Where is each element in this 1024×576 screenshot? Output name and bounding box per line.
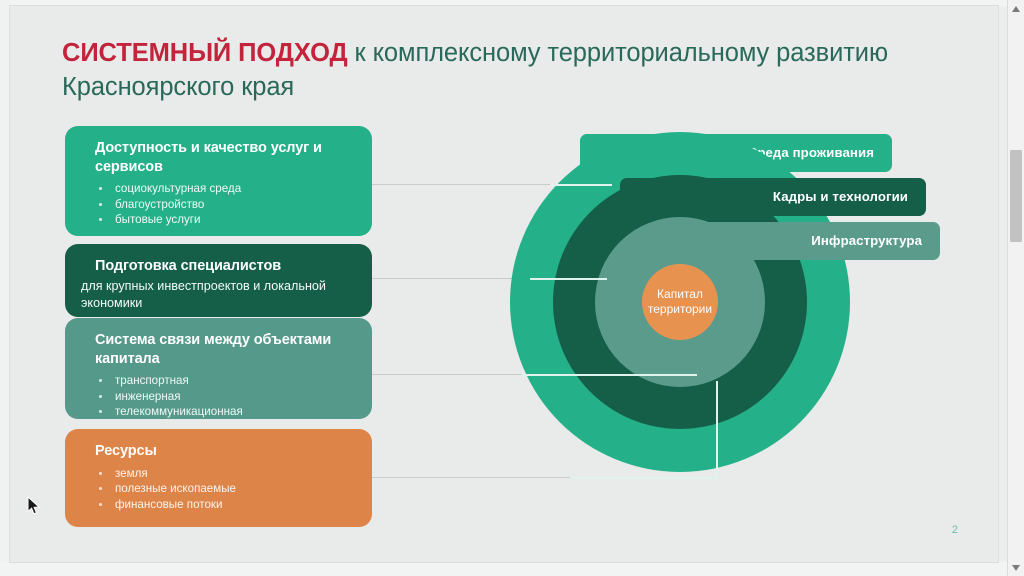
card-resources[interactable]: Ресурсы земля полезные ископаемые финанс…: [65, 429, 372, 527]
card-subtitle: для крупных инвестпроектов и локальной э…: [81, 278, 356, 312]
core-label: Капитал территории: [648, 287, 712, 317]
list-item: бытовые услуги: [95, 212, 356, 228]
card-connection-system[interactable]: Система связи между объектами капитала т…: [65, 318, 372, 419]
viewer-left-margin: [0, 0, 10, 576]
chevron-down-icon[interactable]: [1008, 559, 1024, 576]
scrollbar-vertical[interactable]: [1007, 0, 1024, 576]
page-title-accent: СИСТЕМНЫЙ ПОДХОД: [62, 39, 348, 67]
slide-content: СИСТЕМНЫЙ ПОДХОД к комплексному территор…: [10, 6, 998, 562]
card-bullet-list: земля полезные ископаемые финансовые пот…: [95, 466, 356, 513]
card-title: Подготовка специалистов: [95, 257, 356, 276]
chevron-up-icon[interactable]: [1008, 0, 1024, 17]
list-item: телекоммуникационная: [95, 404, 356, 420]
ring-core-territory-capital[interactable]: Капитал территории: [642, 264, 718, 340]
card-title: Доступность и качество услуг и сервисов: [95, 139, 356, 176]
connector-inner-1: [550, 184, 612, 186]
card-bullet-list: транспортная инженерная телекоммуникацио…: [95, 373, 356, 420]
list-item: финансовые потоки: [95, 497, 356, 513]
viewer-bottom-margin: [0, 562, 1024, 576]
connector-inner-3: [522, 374, 697, 376]
list-item: полезные ископаемые: [95, 481, 356, 497]
page-title: СИСТЕМНЫЙ ПОДХОД к комплексному территор…: [62, 36, 892, 104]
connector-inner-4-horizontal: [570, 477, 718, 479]
connector-inner-2: [530, 278, 607, 280]
scrollbar-thumb[interactable]: [1010, 150, 1022, 242]
list-item: инженерная: [95, 389, 356, 405]
ring-label-text: Кадры и технологии: [773, 190, 908, 203]
card-title: Система связи между объектами капитала: [95, 331, 356, 368]
card-accessibility-quality[interactable]: Доступность и качество услуг и сервисов …: [65, 126, 372, 236]
list-item: благоустройство: [95, 197, 356, 213]
list-item: земля: [95, 466, 356, 482]
core-label-line1: Капитал: [657, 287, 703, 301]
card-specialist-training[interactable]: Подготовка специалистов для крупных инве…: [65, 244, 372, 317]
page-number: 2: [952, 524, 958, 536]
card-bullet-list: социокультурная среда благоустройство бы…: [95, 181, 356, 228]
concentric-diagram: Среда проживания Кадры и технологии Инфр…: [500, 116, 960, 536]
list-item: транспортная: [95, 373, 356, 389]
connector-inner-4-vertical: [716, 381, 718, 478]
list-item: социокультурная среда: [95, 181, 356, 197]
slide-viewer: СИСТЕМНЫЙ ПОДХОД к комплексному территор…: [0, 0, 1024, 576]
ring-label-text: Инфраструктура: [811, 234, 922, 247]
card-title: Ресурсы: [95, 442, 356, 461]
core-label-line2: территории: [648, 302, 712, 316]
scrollbar-track[interactable]: [1008, 17, 1024, 559]
